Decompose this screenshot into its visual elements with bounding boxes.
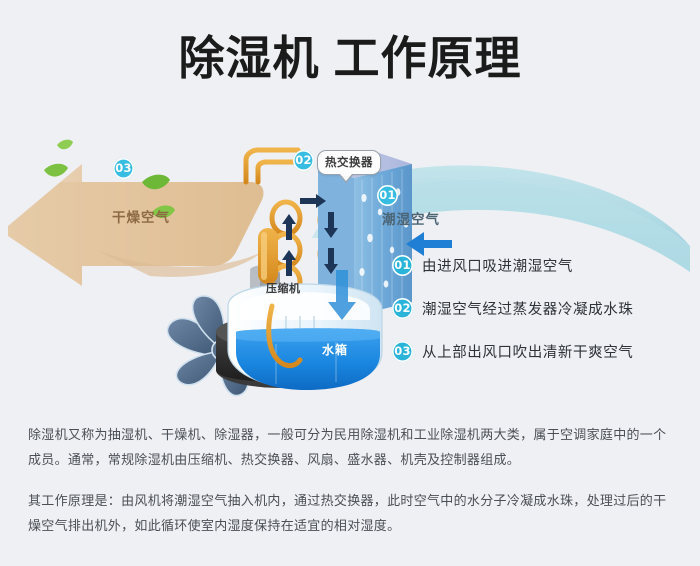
- badge-02-diagram: 02: [293, 150, 314, 171]
- badge-03-diagram: 03: [113, 158, 134, 179]
- title-part-1: 除湿机: [179, 31, 320, 85]
- callout-heat-exchanger: 热交换器: [317, 150, 381, 175]
- legend-item-01: 01 由进风口吸进潮湿空气: [392, 254, 682, 276]
- label-compressor: 压缩机: [266, 283, 301, 294]
- legend-item-02: 02 潮湿空气经过蒸发器冷凝成水珠: [392, 297, 682, 319]
- accumulator: [258, 228, 278, 284]
- legend-badge-01: 01: [392, 255, 413, 276]
- legend-text-03: 从上部出风口吹出清新干爽空气: [422, 341, 633, 362]
- leaf-icon: [57, 140, 73, 150]
- legend-item-03: 03 从上部出风口吹出清新干爽空气: [392, 340, 682, 362]
- title-part-2: 工作原理: [334, 31, 522, 85]
- label-dry-air: 干燥空气: [112, 212, 170, 226]
- page-title: 除湿机工作原理: [0, 33, 700, 84]
- legend-text-02: 潮湿空气经过蒸发器冷凝成水珠: [422, 298, 633, 319]
- legend-badge-03: 03: [392, 341, 413, 362]
- water-tank: [236, 328, 380, 390]
- legend-list: 01 由进风口吸进潮湿空气 02 潮湿空气经过蒸发器冷凝成水珠 03 从上部出风…: [392, 254, 682, 383]
- description-block: 除湿机又称为抽湿机、干燥机、除湿器，一般可分为民用除湿机和工业除湿机两大类，属于…: [28, 423, 676, 539]
- legend-text-01: 由进风口吸进潮湿空气: [422, 255, 573, 276]
- leaf-icon: [44, 164, 68, 177]
- legend-badge-02: 02: [392, 298, 413, 319]
- label-humid-air: 潮湿空气: [382, 214, 440, 228]
- description-paragraph-2: 其工作原理是：由风机将潮湿空气抽入机内，通过热交换器，此时空气中的水分子冷凝成水…: [28, 489, 676, 539]
- description-paragraph-1: 除湿机又称为抽湿机、干燥机、除湿器，一般可分为民用除湿机和工业除湿机两大类，属于…: [28, 423, 676, 473]
- label-water-tank: 水箱: [322, 344, 348, 356]
- infographic-page: 除湿机工作原理: [0, 0, 700, 566]
- badge-01-diagram: 01: [377, 185, 398, 206]
- intake-arrow: [406, 232, 452, 256]
